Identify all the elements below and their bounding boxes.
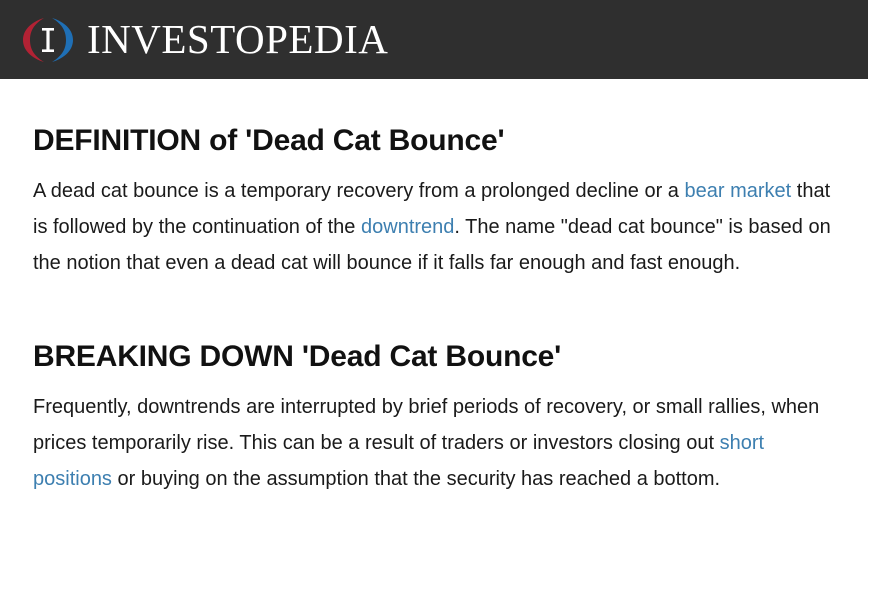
article-body: DEFINITION of 'Dead Cat Bounce' A dead c… <box>0 79 873 497</box>
definition-heading: DEFINITION of 'Dead Cat Bounce' <box>33 79 840 159</box>
definition-paragraph: A dead cat bounce is a temporary recover… <box>33 159 833 281</box>
section-definition: DEFINITION of 'Dead Cat Bounce' A dead c… <box>33 79 840 281</box>
breaking-down-paragraph: Frequently, downtrends are interrupted b… <box>33 375 833 497</box>
section-breaking-down: BREAKING DOWN 'Dead Cat Bounce' Frequent… <box>33 281 840 497</box>
logo-left-crescent <box>23 18 44 62</box>
investopedia-logo-icon <box>19 15 77 65</box>
brand-wordmark: INVESTOPEDIA <box>87 19 388 60</box>
breaking-down-heading: BREAKING DOWN 'Dead Cat Bounce' <box>33 281 840 375</box>
logo-right-crescent <box>52 18 73 62</box>
inline-link-short-positions[interactable]: short positions <box>33 432 764 490</box>
logo-letter-i <box>42 28 54 52</box>
inline-link-downtrend[interactable]: downtrend <box>361 216 454 238</box>
brand-logo-link[interactable]: INVESTOPEDIA <box>19 15 388 65</box>
inline-link-bear-market[interactable]: bear market <box>684 180 791 202</box>
site-header: INVESTOPEDIA <box>0 0 868 79</box>
